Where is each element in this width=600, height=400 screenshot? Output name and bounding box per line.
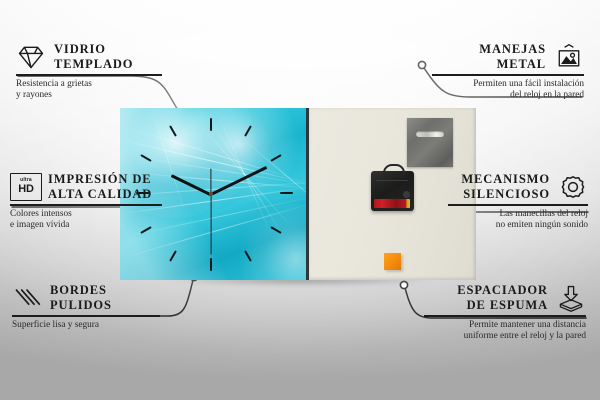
ultra-hd-icon-main-text: HD [18, 184, 34, 195]
mechanism-seam [376, 180, 408, 181]
feature-subtitle: Resistencia a grietas y rayones [16, 79, 166, 101]
clock-hand-second [210, 194, 211, 254]
gear-icon [558, 173, 588, 201]
metal-hanger-plate [407, 118, 453, 167]
mechanism-hanging-loop [383, 164, 405, 175]
clock-center-pin [209, 192, 213, 196]
feature-subtitle: Colores intensos e imagen vívida [10, 209, 175, 231]
diamond-icon [16, 43, 46, 71]
feature-impresion-alta-calidad: ultra HD IMPRESIÓN DE ALTA CALIDAD Color… [10, 172, 175, 231]
feature-title: VIDRIO TEMPLADO [54, 42, 133, 71]
clock-tick [280, 192, 293, 194]
feature-rule [424, 315, 586, 317]
polished-edges-icon [12, 284, 42, 312]
feature-title: MANEJAS METAL [479, 42, 546, 71]
feature-title: BORDES PULIDOS [50, 283, 112, 312]
wall-frame-hook-icon [554, 43, 584, 71]
feature-mecanismo-silencioso: MECANISMO SILENCIOSO Las manecillas del … [448, 172, 588, 231]
feature-title: ESPACIADOR DE ESPUMA [457, 283, 548, 312]
feature-rule [16, 74, 162, 76]
endpoint-dot-manejas [418, 61, 425, 68]
feature-rule [448, 204, 588, 206]
feature-rule [12, 315, 160, 317]
feature-bordes-pulidos: BORDES PULIDOS Superficie lisa y segura [12, 283, 167, 331]
feature-subtitle: Permiten una fácil instalación del reloj… [432, 79, 584, 101]
clock-hand-second-tail [210, 168, 211, 194]
feature-title: MECANISMO SILENCIOSO [461, 172, 550, 201]
quartz-mechanism [371, 171, 414, 211]
battery [374, 199, 410, 208]
clock-tick [210, 118, 212, 131]
feature-subtitle: Permite mantener una distancia uniforme … [424, 320, 586, 342]
hanger-slot [416, 131, 444, 137]
feature-title: IMPRESIÓN DE ALTA CALIDAD [48, 172, 152, 201]
feature-subtitle: Superficie lisa y segura [12, 320, 167, 331]
clock-tick [210, 258, 212, 271]
foam-spacer-arrow-icon [556, 284, 586, 312]
feature-rule [10, 204, 162, 206]
feature-manejas-metal: MANEJAS METAL Permiten una fácil instala… [432, 42, 584, 101]
feature-subtitle: Las manecillas del reloj no emiten ningú… [448, 209, 588, 231]
ultra-hd-icon: ultra HD [10, 173, 40, 201]
feature-espaciador-espuma: ESPACIADOR DE ESPUMA Permite mantener un… [424, 283, 586, 342]
feature-rule [432, 74, 584, 76]
infographic-canvas: VIDRIO TEMPLADO Resistencia a grietas y … [0, 0, 600, 400]
feature-vidrio-templado: VIDRIO TEMPLADO Resistencia a grietas y … [16, 42, 166, 101]
mechanism-dial [403, 191, 410, 198]
foam-spacer [384, 253, 401, 270]
